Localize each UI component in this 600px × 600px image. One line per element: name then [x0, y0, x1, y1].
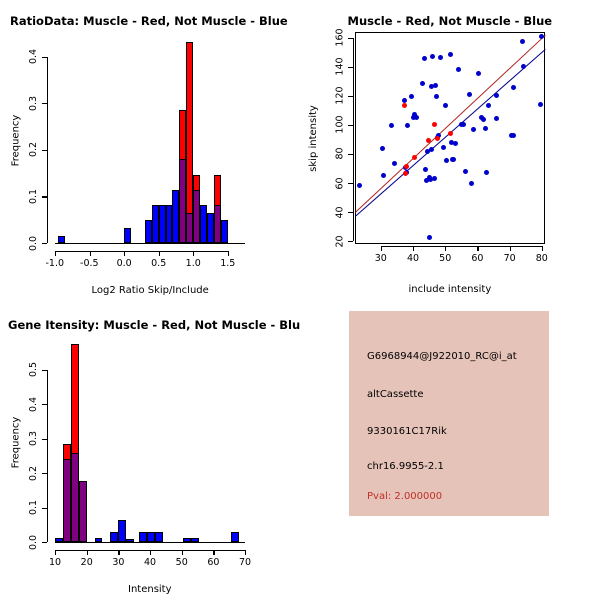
- x-axis-tick-label: -1.0: [46, 258, 65, 269]
- scatter-point-not-muscle: [438, 55, 443, 60]
- scatter-point-not-muscle: [494, 93, 499, 98]
- histogram-bar-not-muscle: [231, 532, 239, 542]
- panel-histogram-gene-intensity: Gene Itensity: Muscle - Red, Not Muscle …: [0, 300, 300, 600]
- x-axis-title-ratio: Log2 Ratio Skip/Include: [92, 285, 209, 296]
- x-axis-tick-label: 50: [439, 253, 451, 264]
- histogram-bar-not-muscle: [124, 228, 131, 243]
- x-axis-tick-label: 30: [112, 557, 124, 568]
- scatter-point-not-muscle: [520, 39, 525, 44]
- histogram-bar-not-muscle: [191, 538, 199, 542]
- x-axis-tick-label: 70: [504, 253, 516, 264]
- x-axis-tick: [87, 550, 88, 555]
- y-axis-tick-label: 40: [334, 206, 345, 218]
- y-axis-tick-label: 60: [334, 177, 345, 189]
- histogram-bar-not-muscle: [147, 532, 155, 542]
- x-axis-tick: [118, 550, 119, 555]
- scatter-point-not-muscle: [441, 145, 446, 150]
- y-axis-tick-label: 0.0: [28, 235, 39, 250]
- scatter-point-muscle: [404, 164, 409, 169]
- scatter-point-muscle: [403, 171, 408, 176]
- x-axis-tick-label: 80: [536, 253, 548, 264]
- histogram-bar-not-muscle: [200, 205, 207, 243]
- plot-title-gene: Gene Itensity: Muscle - Red, Not Muscle …: [8, 318, 300, 332]
- y-axis-tick-label: 0.1: [28, 189, 39, 204]
- y-axis-title-gene: Frequency: [10, 416, 21, 468]
- y-axis-tick: [42, 439, 47, 440]
- y-axis-tick-label: 0.3: [28, 96, 39, 111]
- scatter-point-muscle: [426, 138, 431, 143]
- x-axis-tick: [55, 251, 56, 256]
- scatter-point-not-muscle: [443, 103, 448, 108]
- y-axis-tick: [348, 154, 353, 155]
- x-axis-tick-label: 0.0: [117, 258, 132, 269]
- scatter-point-not-muscle: [453, 141, 458, 146]
- x-axis-tick-label: 40: [407, 253, 419, 264]
- x-axis-line: [55, 251, 228, 252]
- scatter-point-not-muscle: [476, 71, 481, 76]
- x-axis-tick: [193, 251, 194, 256]
- scatter-point-muscle: [402, 103, 407, 108]
- y-axis-tick: [42, 150, 47, 151]
- scatter-point-not-muscle: [469, 181, 474, 186]
- histogram-bar-overlap: [186, 213, 193, 243]
- scatter-point-not-muscle: [392, 161, 397, 166]
- scatter-point-not-muscle: [380, 146, 385, 151]
- y-axis-line: [47, 57, 48, 243]
- y-axis-tick: [42, 196, 47, 197]
- scatter-point-not-muscle: [444, 158, 449, 163]
- histogram-bar-not-muscle: [183, 538, 191, 542]
- y-axis-tick: [348, 125, 353, 126]
- histogram-bar-not-muscle: [58, 236, 65, 243]
- y-axis-line: [47, 370, 48, 542]
- histogram-bar-not-muscle: [207, 213, 214, 243]
- scatter-point-not-muscle: [389, 123, 394, 128]
- histogram-bar-overlap: [214, 205, 221, 243]
- y-axis-tick-label: 0.4: [28, 49, 39, 64]
- y-axis-tick: [42, 542, 47, 543]
- scatter-point-muscle: [435, 136, 440, 141]
- scatter-point-not-muscle: [451, 157, 456, 162]
- histogram-bar-not-muscle: [95, 538, 103, 542]
- y-axis-tick-label: 140: [334, 58, 345, 76]
- x-axis-tick-label: 20: [81, 557, 93, 568]
- y-axis-tick-label: 0.5: [28, 362, 39, 377]
- y-axis-tick-label: 0.4: [28, 397, 39, 412]
- x-axis-tick: [510, 246, 511, 251]
- y-axis-tick: [348, 183, 353, 184]
- scatter-plot-frame: [355, 32, 545, 244]
- histogram-bar-not-muscle: [221, 220, 228, 243]
- x-axis-tick-label: 60: [207, 557, 219, 568]
- panel-histogram-ratio: RatioData: Muscle - Red, Not Muscle - Bl…: [0, 0, 300, 300]
- y-axis-tick: [348, 212, 353, 213]
- x-axis-title-scatter: include intensity: [409, 284, 492, 295]
- x-axis-tick: [90, 251, 91, 256]
- histogram-bar-not-muscle: [145, 220, 152, 243]
- x-axis-tick-label: 30: [375, 253, 387, 264]
- x-axis-tick: [245, 550, 246, 555]
- plot-title-scatter: Muscle - Red, Not Muscle - Blue: [348, 14, 553, 28]
- histogram-bar-not-muscle: [159, 205, 166, 243]
- histogram-bar-not-muscle: [110, 532, 118, 542]
- y-axis-tick: [42, 370, 47, 371]
- scatter-point-not-muscle: [511, 133, 516, 138]
- x-axis-tick-label: 50: [176, 557, 188, 568]
- y-axis-line: [353, 38, 354, 241]
- x-axis-tick-label: 60: [471, 253, 483, 264]
- y-axis-tick-label: 0.2: [28, 142, 39, 157]
- plot-title-ratio: RatioData: Muscle - Red, Not Muscle - Bl…: [10, 14, 288, 28]
- x-axis-tick: [542, 246, 543, 251]
- x-axis-tick-label: 1.0: [186, 258, 201, 269]
- x-axis-tick-label: 70: [239, 557, 251, 568]
- histogram-bar-overlap: [71, 453, 79, 542]
- panel-gene-info: G6968944@J922010_RC@i_at altCassette 933…: [300, 300, 600, 600]
- histogram-bar-not-muscle: [139, 532, 147, 542]
- y-axis-tick: [42, 243, 47, 244]
- y-axis-tick-label: 120: [334, 87, 345, 105]
- y-axis-tick: [348, 67, 353, 68]
- scatter-point-not-muscle: [427, 235, 432, 240]
- x-axis-line: [381, 246, 542, 247]
- scatter-point-not-muscle: [448, 52, 453, 57]
- y-axis-tick: [348, 38, 353, 39]
- x-axis-tick: [381, 246, 382, 251]
- y-axis-tick: [42, 473, 47, 474]
- histogram-bar-not-muscle: [155, 532, 163, 542]
- histogram-bar-overlap: [63, 459, 71, 542]
- y-axis-tick: [348, 96, 353, 97]
- x-axis-title-gene: Intensity: [128, 584, 172, 595]
- info-probe-id: G6968944@J922010_RC@i_at: [367, 351, 517, 362]
- y-axis-tick: [42, 508, 47, 509]
- x-axis-tick-label: 0.5: [151, 258, 166, 269]
- histogram-bar-overlap: [193, 190, 200, 243]
- x-axis-tick-label: 10: [49, 557, 61, 568]
- x-axis-tick: [228, 251, 229, 256]
- y-axis-tick: [42, 404, 47, 405]
- y-axis-tick-label: 0.1: [28, 500, 39, 515]
- y-axis-tick-label: 160: [334, 29, 345, 47]
- scatter-point-not-muscle: [481, 117, 486, 122]
- histogram-bar-not-muscle: [166, 205, 173, 243]
- x-axis-tick-label: -0.5: [80, 258, 99, 269]
- scatter-point-not-muscle: [483, 126, 488, 131]
- y-axis-tick-label: 0.0: [28, 534, 39, 549]
- histogram-bar-overlap: [179, 159, 186, 243]
- histogram-bar-not-muscle: [118, 520, 126, 542]
- info-event-type-2: altCassette: [367, 389, 424, 400]
- histogram-bar-overlap: [79, 481, 87, 542]
- y-axis-tick-label: 80: [334, 148, 345, 160]
- x-axis-tick: [413, 246, 414, 251]
- x-axis-tick: [213, 550, 214, 555]
- info-locus: chr16.9955-2.1: [367, 461, 444, 472]
- scatter-point-not-muscle: [422, 56, 427, 61]
- panel-scatter-intensity: Muscle - Red, Not Muscle - Blue skip int…: [300, 0, 600, 300]
- x-axis-tick: [150, 550, 151, 555]
- x-axis-tick: [445, 246, 446, 251]
- histogram-bar-not-muscle: [55, 538, 63, 542]
- x-axis-tick-label: 40: [144, 557, 156, 568]
- x-axis-tick: [55, 550, 56, 555]
- y-axis-tick-label: 0.2: [28, 465, 39, 480]
- y-axis-title-scatter: skip intensity: [308, 105, 319, 172]
- x-axis-tick: [124, 251, 125, 256]
- info-gene-symbol: 9330161C17Rik: [367, 426, 447, 437]
- histogram-bar-not-muscle: [172, 190, 179, 243]
- x-axis-tick-label: 1.5: [220, 258, 235, 269]
- histogram-baseline: [55, 243, 245, 244]
- y-axis-tick-label: 100: [334, 116, 345, 134]
- x-axis-tick: [159, 251, 160, 256]
- y-axis-tick: [42, 103, 47, 104]
- scatter-point-not-muscle: [539, 34, 544, 39]
- histogram-bar-not-muscle: [126, 539, 134, 542]
- info-pval: Pval: 2.000000: [367, 491, 442, 502]
- y-axis-tick: [348, 241, 353, 242]
- scatter-point-not-muscle: [521, 64, 526, 69]
- scatter-point-not-muscle: [357, 183, 362, 188]
- histogram-bar-not-muscle: [152, 205, 159, 243]
- y-axis-tick: [42, 57, 47, 58]
- y-axis-tick-label: 20: [334, 235, 345, 247]
- histogram-baseline: [55, 542, 245, 543]
- gene-info-box: G6968944@J922010_RC@i_at altCassette 933…: [349, 311, 549, 516]
- y-axis-title-ratio: Frequency: [10, 115, 21, 167]
- y-axis-tick-label: 0.3: [28, 431, 39, 446]
- x-axis-tick: [182, 550, 183, 555]
- scatter-point-not-muscle: [461, 122, 466, 127]
- x-axis-tick: [477, 246, 478, 251]
